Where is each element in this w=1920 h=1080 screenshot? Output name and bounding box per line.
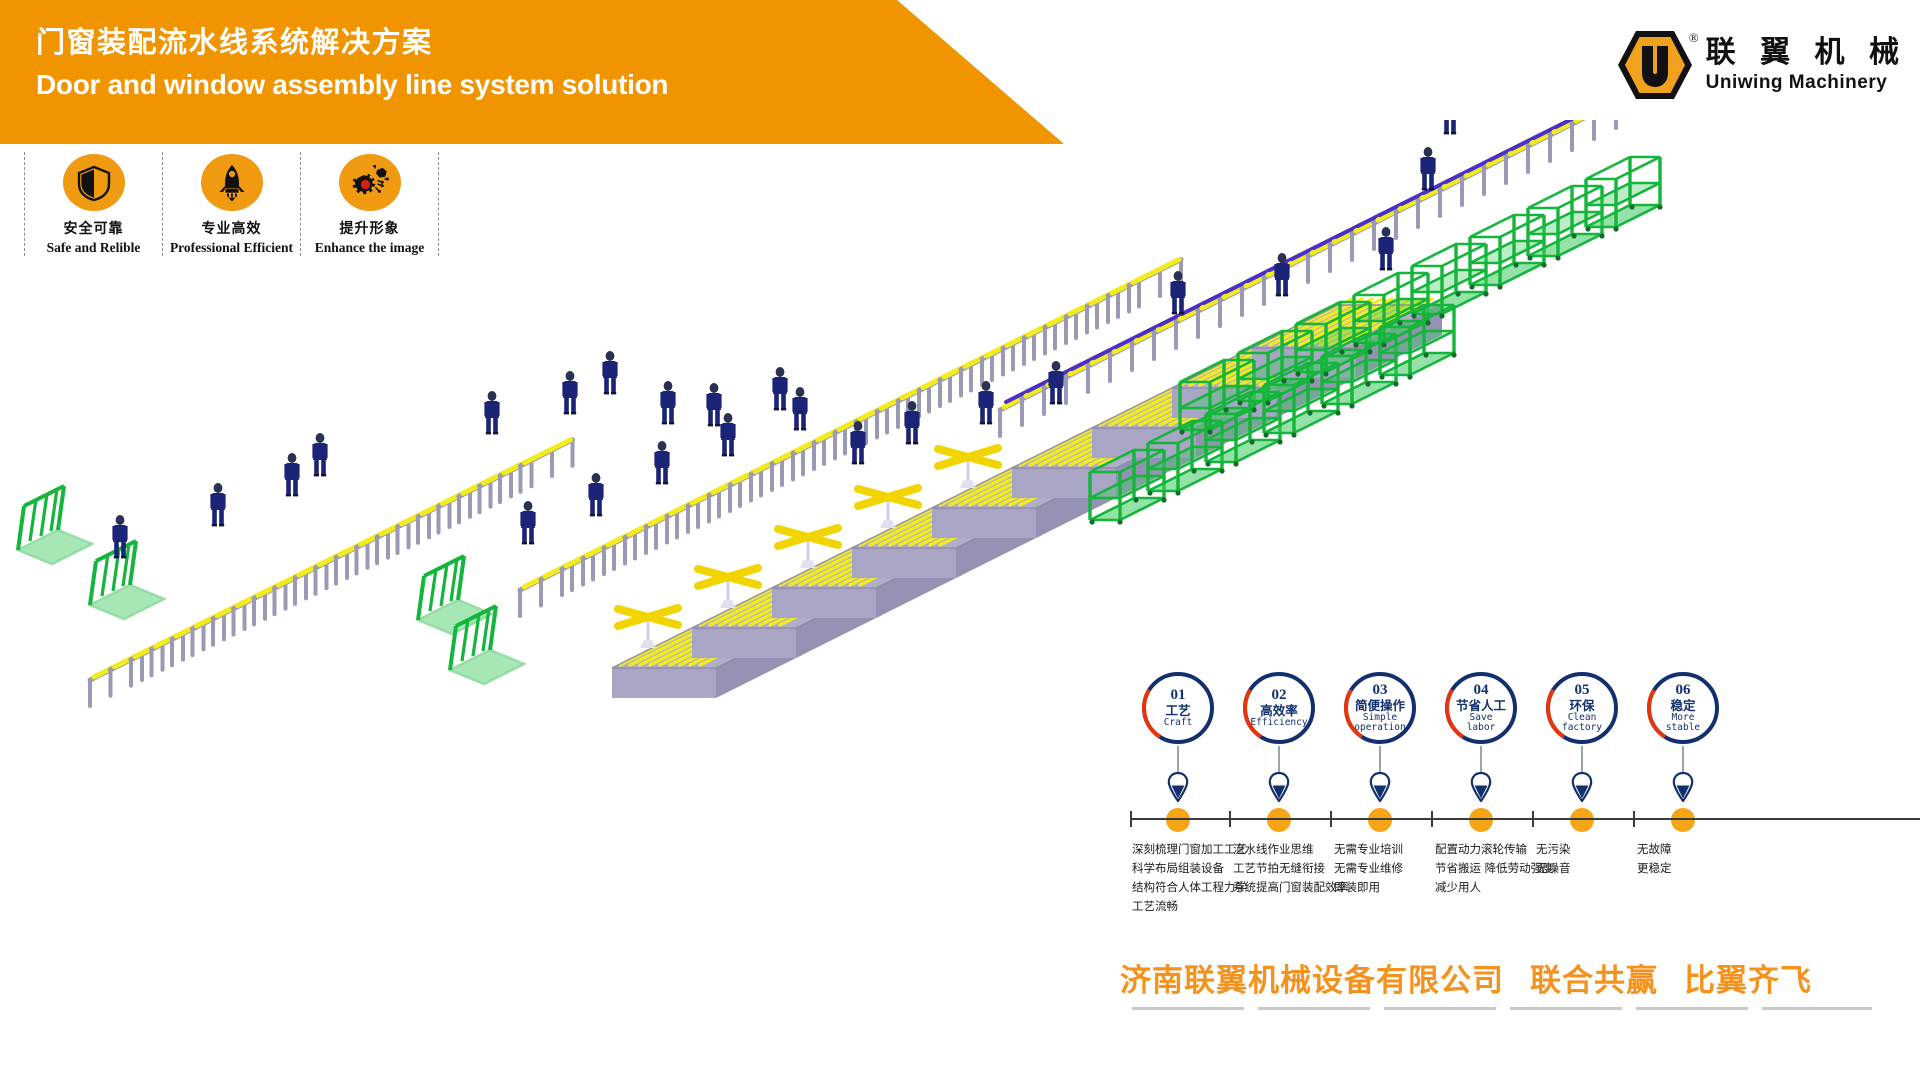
map-pin-icon [1571,772,1593,802]
benefit-badge-05[interactable]: 05环保Cleanfactory [1546,672,1618,744]
company-name: 济南联翼机械设备有限公司 [1120,955,1504,1000]
brand-logo: ® 联 翼 机 械 Uniwing Machinery [1616,26,1906,104]
benefit-badge-03[interactable]: 03简便操作Simpleoperation [1344,672,1416,744]
company-banner-text: 济南联翼机械设备有限公司 联合共赢 比翼齐飞 [1120,955,1920,1000]
benefit-badge-06[interactable]: 06稳定Morestable [1647,672,1719,744]
benefit-desc-02: 流水线作业思维工艺节拍无缝衔接系统提高门窗装配效率 [1233,840,1348,897]
page-title-en: Door and window assembly line system sol… [36,67,856,102]
benefit-badges: 01工艺Craft02高效率Efficiency03简便操作Simpleoper… [1130,672,1920,822]
badge-stem [1480,746,1482,774]
badge-ring: 02高效率Efficiency [1243,672,1315,744]
badge-stem [1177,746,1179,774]
axis-tick [1229,811,1231,827]
benefits-timeline: 01工艺Craft02高效率Efficiency03简便操作Simpleoper… [1130,672,1920,922]
banner-underline [1132,1007,1872,1010]
map-pin-icon [1369,772,1391,802]
worker-group [112,120,1457,558]
timeline-axis [1130,818,1920,820]
benefit-badge-02[interactable]: 02高效率Efficiency [1243,672,1315,744]
badge-number: 06 [1676,683,1691,699]
map-pin-icon [1672,772,1694,802]
brand-wordmark: 联 翼 机 械 Uniwing Machinery [1706,36,1906,94]
axis-tick [1633,811,1635,827]
brand-name-cn: 联 翼 机 械 [1706,36,1906,69]
badge-ring: 03简便操作Simpleoperation [1344,672,1416,744]
badge-number: 02 [1272,688,1287,704]
slogan-one: 联合共赢 [1530,955,1658,1000]
page-title-cn: 门窗装配流水线系统解决方案 [36,24,856,60]
benefit-desc-05: 无污染无噪音 [1536,840,1571,878]
badge-stem [1379,746,1381,774]
axis-tick [1330,811,1332,827]
badge-stem [1581,746,1583,774]
timeline-dot [1570,808,1594,832]
map-pin-icon [1167,772,1189,802]
badge-stem [1278,746,1280,774]
badge-number: 04 [1474,683,1489,699]
badge-ring: 01工艺Craft [1142,672,1214,744]
registered-trademark-icon: ® [1689,30,1699,46]
hexagon-u-icon: ® [1616,26,1694,104]
map-pin-icon [1268,772,1290,802]
timeline-dot [1368,808,1392,832]
axis-tick [1431,811,1433,827]
map-pin-icon [1470,772,1492,802]
badge-ring: 04节省人工Savelabor [1445,672,1517,744]
axis-end-tick [1130,811,1132,827]
timeline-dot [1671,808,1695,832]
benefit-badge-04[interactable]: 04节省人工Savelabor [1445,672,1517,744]
company-banner: 济南联翼机械设备有限公司 联合共赢 比翼齐飞 [1120,955,1920,1025]
benefit-desc-03: 无需专业培训无需专业维修即装即用 [1334,840,1403,897]
header-titles: 门窗装配流水线系统解决方案 Door and window assembly l… [36,24,856,102]
badge-number: 01 [1171,688,1186,704]
axis-tick [1532,811,1534,827]
slogan-two: 比翼齐飞 [1684,955,1812,1000]
benefit-badge-01[interactable]: 01工艺Craft [1142,672,1214,744]
badge-number: 03 [1373,683,1388,699]
badge-number: 05 [1575,683,1590,699]
benefit-desc-01: 深刻梳理门窗加工工艺科学布局组装设备结构符合人体工程力学工艺流畅 [1132,840,1247,916]
assembly-table-row [612,299,1442,698]
brand-name-en: Uniwing Machinery [1706,73,1906,94]
timeline-dot [1267,808,1291,832]
badge-stem [1682,746,1684,774]
badge-ring: 06稳定Morestable [1647,672,1719,744]
timeline-dot [1469,808,1493,832]
timeline-dot [1166,808,1190,832]
badge-ring: 05环保Cleanfactory [1546,672,1618,744]
benefit-desc-06: 无故障更稳定 [1637,840,1672,878]
